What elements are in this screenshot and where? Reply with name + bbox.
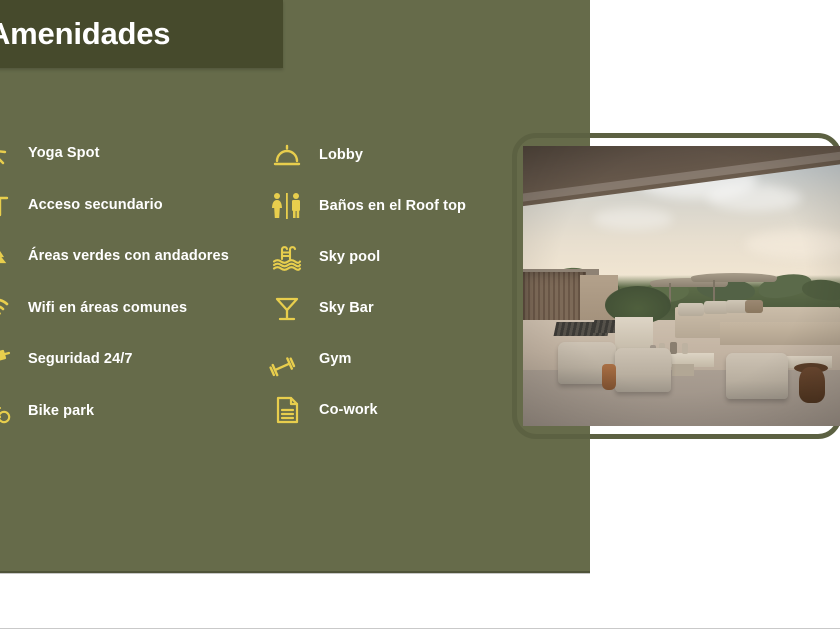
yoga-icon	[0, 133, 18, 173]
amenities-left-column: Yoga Spot Acceso secundario Áreas ve	[0, 128, 274, 437]
rooftop-terrace-photo	[523, 146, 840, 426]
amenity-label: Bike park	[28, 403, 94, 419]
photo-content	[523, 146, 840, 426]
amenity-label: Co-work	[319, 402, 378, 418]
amenity-label: Lobby	[319, 147, 363, 163]
service-bell-icon	[265, 135, 309, 175]
amenity-item-sky-bar[interactable]: Sky Bar	[265, 283, 515, 333]
amenity-item-wifi[interactable]: Wifi en áreas comunes	[0, 283, 274, 334]
amenity-item-bike-park[interactable]: Bike park	[0, 386, 274, 437]
amenity-item-seguridad[interactable]: Seguridad 24/7	[0, 334, 274, 385]
amenity-item-yoga-spot[interactable]: Yoga Spot	[0, 128, 274, 179]
photo-vignette	[523, 146, 840, 426]
amenity-item-banos-roof-top[interactable]: Baños en el Roof top	[265, 181, 515, 231]
amenity-label: Sky pool	[319, 249, 380, 265]
dumbbell-icon	[265, 339, 309, 379]
page-title: Amenidades	[0, 16, 170, 52]
olive-block-shadow	[0, 571, 590, 574]
bicycle-icon	[0, 391, 18, 431]
amenity-label: Yoga Spot	[28, 145, 100, 161]
document-icon	[265, 390, 309, 430]
tree-path-icon	[0, 236, 18, 276]
amenity-item-acceso-secundario[interactable]: Acceso secundario	[0, 180, 274, 231]
amenity-label: Seguridad 24/7	[28, 351, 133, 367]
amenity-label: Acceso secundario	[28, 197, 163, 213]
wifi-icon	[0, 288, 18, 328]
amenity-item-gym[interactable]: Gym	[265, 334, 515, 384]
amenity-item-areas-verdes[interactable]: Áreas verdes con andadores	[0, 231, 274, 282]
amenities-right-column: Lobby Baños en el Roof top	[265, 130, 515, 436]
amenity-label: Gym	[319, 351, 352, 367]
amenity-label: Áreas verdes con andadores	[28, 248, 229, 264]
swimming-pool-icon	[265, 237, 309, 277]
security-camera-icon	[0, 339, 18, 379]
cocktail-glass-icon	[265, 288, 309, 328]
bottom-hairline	[0, 628, 840, 629]
gate-access-icon	[0, 185, 18, 225]
amenity-item-lobby[interactable]: Lobby	[265, 130, 515, 180]
title-box: Amenidades	[0, 0, 283, 68]
amenity-label: Wifi en áreas comunes	[28, 300, 187, 316]
amenity-label: Baños en el Roof top	[319, 198, 466, 214]
amenity-item-co-work[interactable]: Co-work	[265, 385, 515, 435]
restrooms-icon	[265, 186, 309, 226]
amenities-slide: Amenidades Yoga Spot	[0, 0, 840, 630]
amenity-item-sky-pool[interactable]: Sky pool	[265, 232, 515, 282]
amenity-label: Sky Bar	[319, 300, 374, 316]
